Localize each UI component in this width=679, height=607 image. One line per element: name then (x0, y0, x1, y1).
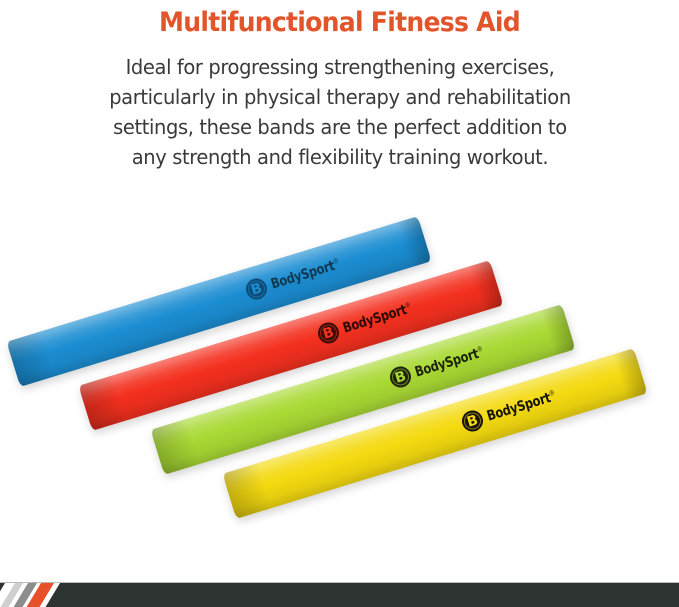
logo-letter-green: B (393, 369, 407, 386)
description-line-4: any strength and flexibility training wo… (55, 142, 625, 172)
bodysport-b-logo-icon: B (387, 364, 413, 390)
band-fold-left-yellow (223, 462, 277, 519)
bodysport-wordmark-green: BodySport® (413, 344, 486, 380)
band-fold-right-green (537, 304, 576, 357)
logo-word-body-blue: Body (269, 268, 304, 292)
logo-ring-icon (318, 322, 339, 343)
product-photo: B BodySport® B BodySport® (0, 210, 679, 583)
logo-letter-yellow: B (465, 413, 479, 430)
logo-word-body-red: Body (341, 312, 376, 336)
bodysport-wordmark-yellow: BodySport® (485, 388, 558, 424)
footer-bar (0, 583, 679, 607)
page-title: Multifunctional Fitness Aid (24, 6, 655, 40)
bodysport-b-logo-icon: B (243, 276, 269, 302)
description-line-2: particularly in physical therapy and reh… (55, 82, 625, 112)
band-fold-right-red (465, 260, 504, 313)
header-text-block: Multifunctional Fitness Aid Ideal for pr… (0, 0, 679, 172)
logo-word-body-yellow: Body (485, 400, 520, 424)
bodysport-wordmark-red: BodySport® (341, 300, 414, 336)
logo-letter-red: B (321, 325, 335, 342)
band-fold-left-red (79, 374, 133, 431)
bodysport-logo-green: B BodySport® (387, 337, 501, 390)
bodysport-b-logo-icon: B (459, 408, 485, 434)
logo-word-sport-blue: Sport (299, 258, 336, 283)
registered-mark-yellow: ® (548, 388, 556, 397)
logo-ring-icon (390, 366, 411, 387)
bodysport-b-logo-icon: B (315, 320, 341, 346)
logo-ring-icon (246, 278, 267, 299)
bodysport-logo-red: B BodySport® (315, 293, 429, 346)
band-fold-right-blue (393, 216, 432, 269)
resistance-band-stage: B BodySport® B BodySport® (0, 210, 679, 583)
bodysport-logo-blue: B BodySport® (243, 249, 357, 302)
logo-word-sport-yellow: Sport (515, 390, 552, 415)
registered-mark-blue: ® (332, 256, 340, 265)
logo-word-sport-red: Sport (371, 302, 408, 327)
band-fold-left-blue (7, 330, 61, 387)
bodysport-wordmark-blue: BodySport® (269, 256, 342, 292)
logo-ring-icon (462, 410, 483, 431)
registered-mark-red: ® (404, 300, 412, 309)
band-fold-right-yellow (609, 348, 648, 401)
logo-word-body-green: Body (413, 356, 448, 380)
logo-word-sport-green: Sport (443, 346, 480, 371)
bodysport-logo-yellow: B BodySport® (459, 381, 573, 434)
description-line-1: Ideal for progressing strengthening exer… (55, 52, 625, 82)
logo-letter-blue: B (249, 281, 263, 298)
band-fold-left-green (151, 418, 205, 475)
description-line-3: settings, these bands are the perfect ad… (55, 112, 625, 142)
product-description: Ideal for progressing strengthening exer… (55, 52, 625, 172)
registered-mark-green: ® (476, 344, 484, 353)
